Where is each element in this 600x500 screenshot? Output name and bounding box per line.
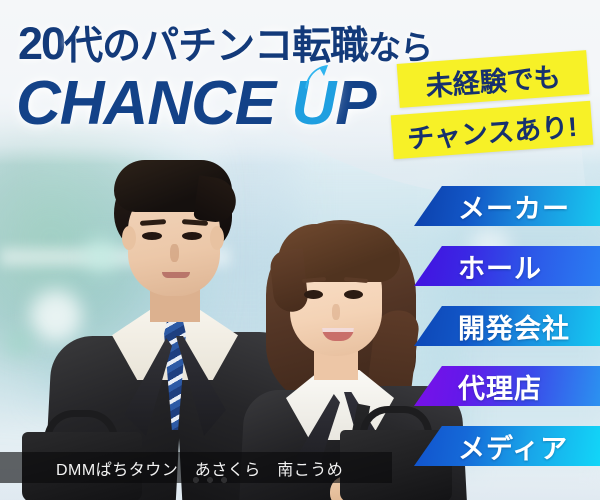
category-button-maker[interactable]: メーカー bbox=[414, 186, 600, 226]
caption-text: DMMぱちタウン あさくら 南こうめ bbox=[56, 456, 343, 480]
category-button-agency[interactable]: 代理店 bbox=[414, 366, 600, 406]
category-label: ホール bbox=[458, 247, 542, 286]
category-button-list: メーカー ホール 開発会社 代理店 メディア bbox=[0, 0, 600, 500]
category-button-development-company[interactable]: 開発会社 bbox=[414, 306, 600, 346]
category-label: 代理店 bbox=[458, 367, 542, 406]
category-label: メーカー bbox=[458, 187, 570, 226]
category-label: メディア bbox=[458, 427, 568, 466]
promo-banner: 20代のパチンコ転職なら CHANCE UP 未経験でも チャンスあり! メーカ… bbox=[0, 0, 600, 500]
category-label: 開発会社 bbox=[458, 307, 570, 346]
category-button-media[interactable]: メディア bbox=[414, 426, 600, 466]
caption-bar: DMMぱちタウン あさくら 南こうめ bbox=[0, 452, 392, 483]
category-button-hall[interactable]: ホール bbox=[414, 246, 600, 286]
